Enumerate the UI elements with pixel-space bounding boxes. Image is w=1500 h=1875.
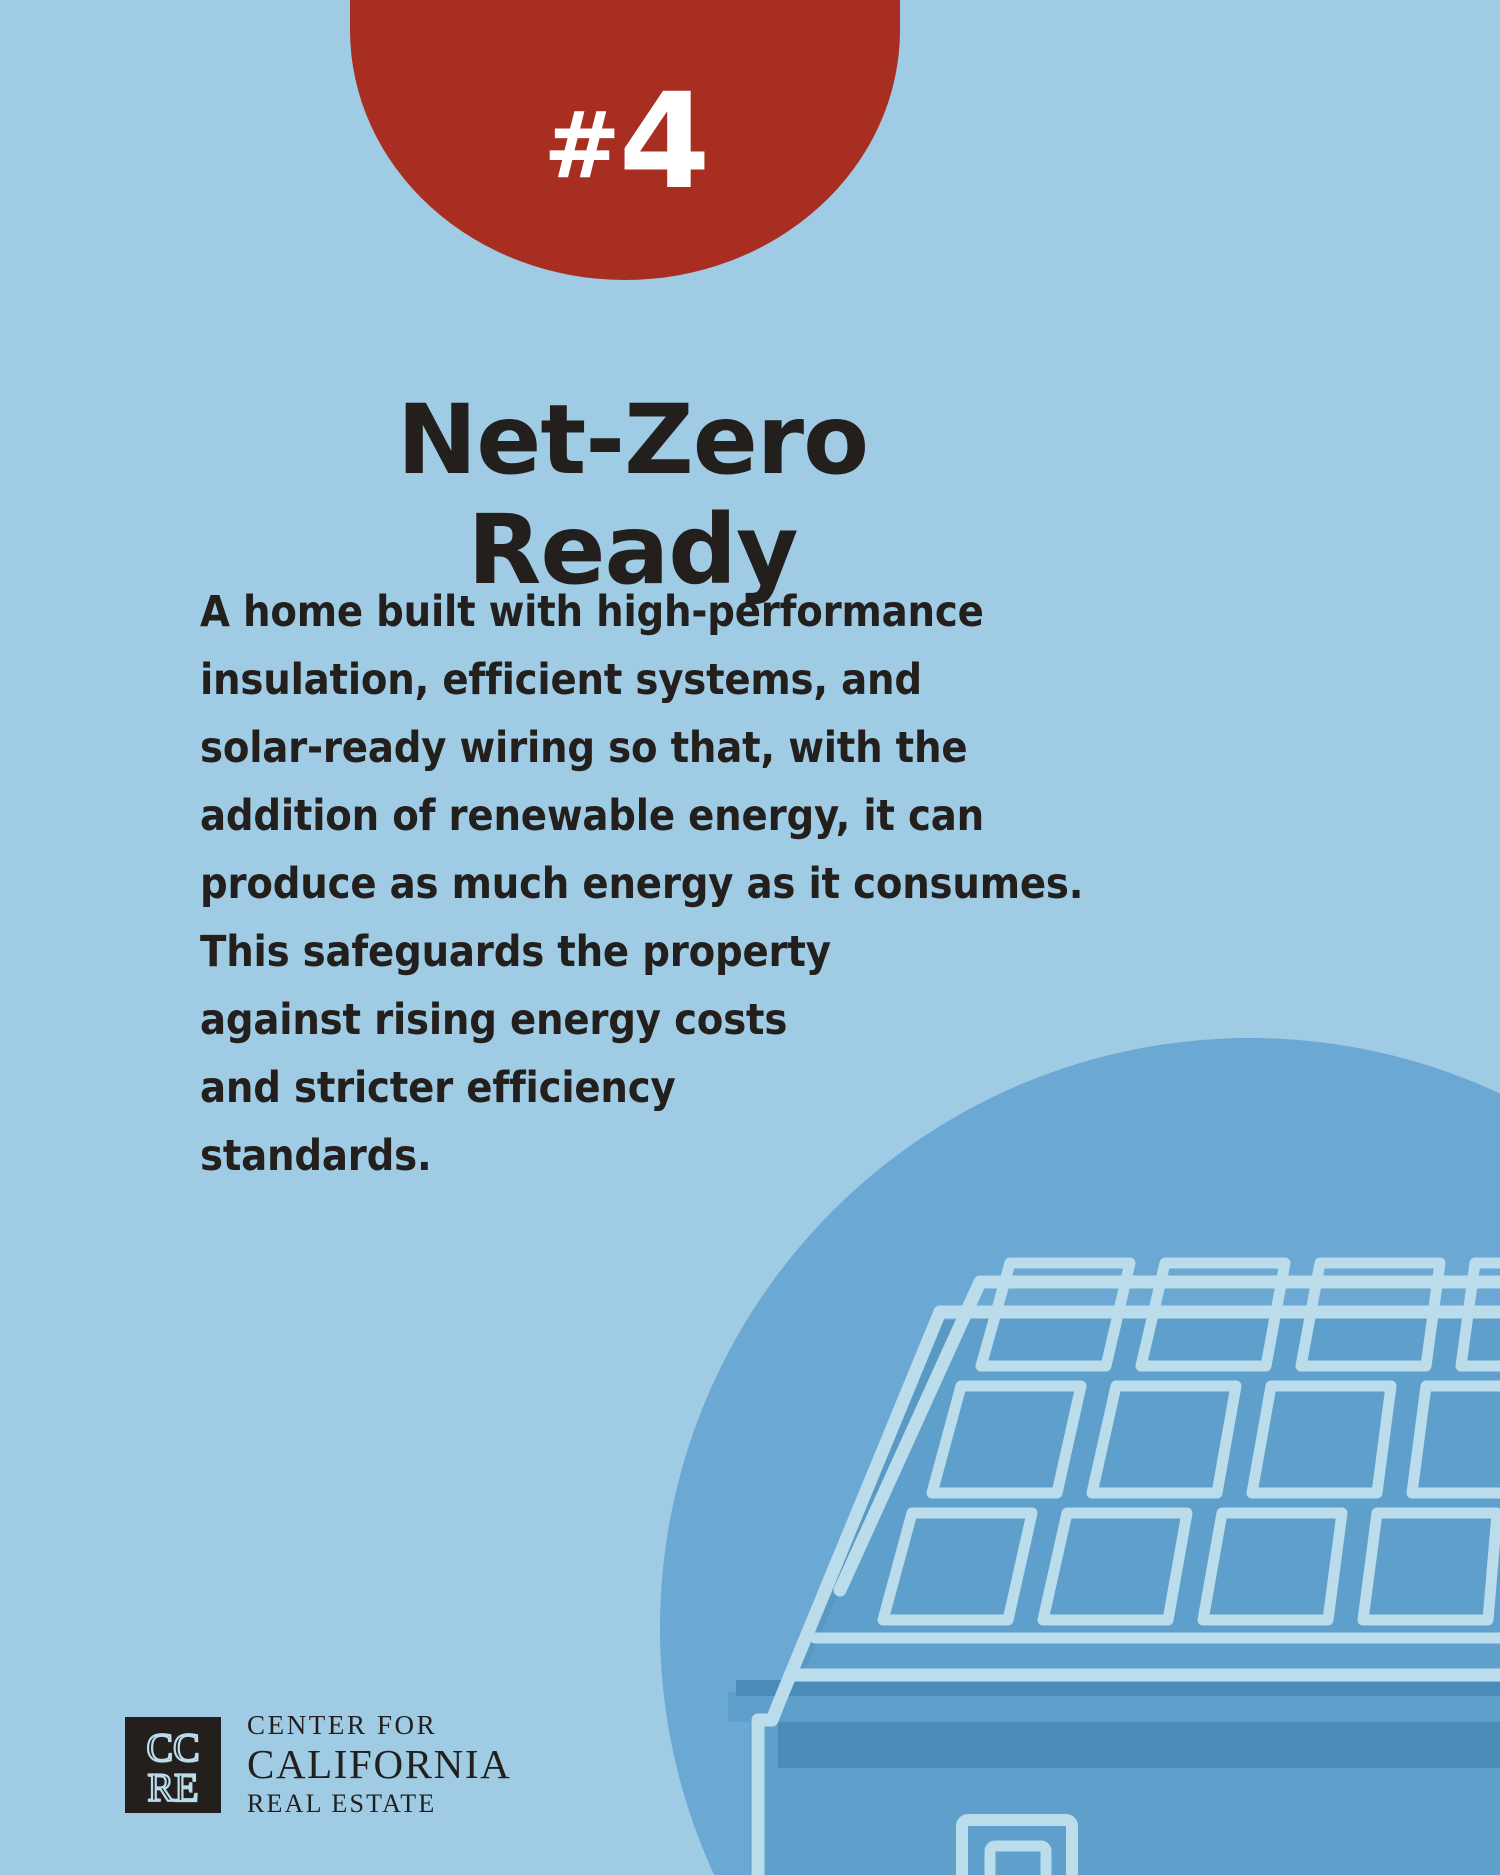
badge-number-value: 4 — [619, 65, 707, 219]
wordmark-line-2: CALIFORNIA — [247, 1744, 511, 1785]
wordmark-line-3: REAL ESTATE — [247, 1791, 511, 1817]
ccre-wordmark: CENTER FOR CALIFORNIA REAL ESTATE — [247, 1712, 511, 1817]
ccre-monogram-icon: CC RE — [125, 1717, 221, 1813]
body-line-7: against rising energy costs — [200, 986, 1100, 1054]
monogram-bottom-text: RE — [147, 1765, 198, 1810]
ccre-logo-lockup: CC RE CENTER FOR CALIFORNIA REAL ESTATE — [125, 1712, 511, 1817]
badge-number-text: #4 — [544, 76, 707, 208]
hash-symbol: # — [544, 92, 619, 199]
wordmark-line-1: CENTER FOR — [247, 1712, 511, 1739]
body-paragraph: A home built with high-performance insul… — [200, 578, 1100, 1190]
body-line-4: addition of renewable energy, it can — [200, 782, 1100, 850]
page-title: Net-Zero Ready — [0, 386, 1265, 605]
body-line-2: insulation, efficient systems, and — [200, 646, 1100, 714]
body-line-9: standards. — [200, 1122, 1100, 1190]
body-line-8: and stricter efficiency — [200, 1054, 1100, 1122]
body-line-3: solar-ready wiring so that, with the — [200, 714, 1100, 782]
body-line-6: This safeguards the property — [200, 918, 1100, 986]
body-line-1: A home built with high-performance — [200, 578, 1100, 646]
monogram-top-text: CC — [146, 1725, 199, 1770]
number-badge: #4 — [350, 0, 900, 280]
body-line-5: produce as much energy as it consumes. — [200, 850, 1100, 918]
poster-canvas: #4 Net-Zero Ready A home built with high… — [0, 0, 1500, 1875]
headline-line-1: Net-Zero — [0, 386, 1265, 495]
